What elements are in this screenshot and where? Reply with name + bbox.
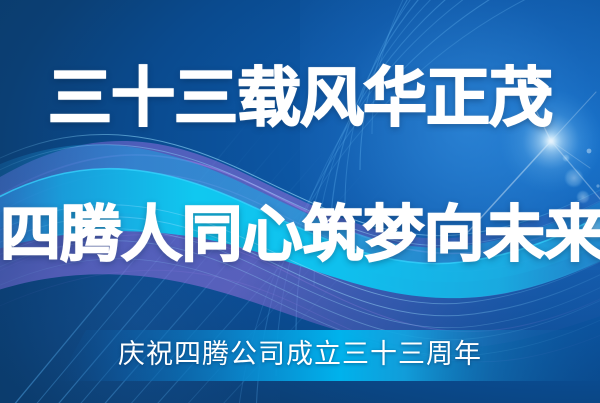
headline-line-2: 四腾人同心筑梦向未来 (0, 199, 600, 269)
headline-line-1: 三十三载风华正茂 (0, 62, 600, 134)
poster-text-block: 三十三载风华正茂 四腾人同心筑梦向未来 庆祝四腾公司成立三十三周年 (0, 0, 600, 403)
poster-subtitle: 庆祝四腾公司成立三十三周年 (0, 337, 600, 371)
celebration-poster: 三十三载风华正茂 四腾人同心筑梦向未来 庆祝四腾公司成立三十三周年 (0, 0, 600, 403)
